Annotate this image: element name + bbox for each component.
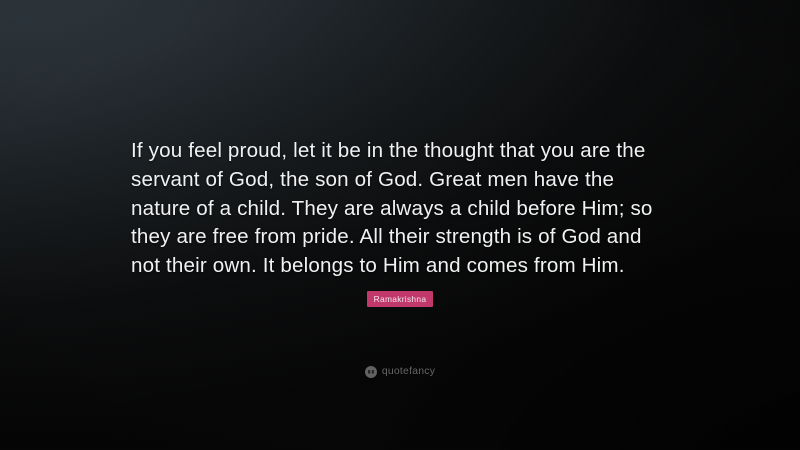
content-layer: If you feel proud, let it be in the thou… <box>0 0 800 450</box>
quote-text: If you feel proud, let it be in the thou… <box>131 137 675 281</box>
author-name-badge[interactable]: Ramakrishna <box>367 291 434 307</box>
quote-wallpaper: If you feel proud, let it be in the thou… <box>0 0 800 450</box>
author-attribution: Ramakrishna <box>0 291 800 307</box>
quote-mark-icon <box>365 366 377 378</box>
watermark-brand-label: quotefancy <box>382 367 435 377</box>
quote-block: If you feel proud, let it be in the thou… <box>131 137 675 281</box>
watermark[interactable]: quotefancy <box>0 366 800 378</box>
